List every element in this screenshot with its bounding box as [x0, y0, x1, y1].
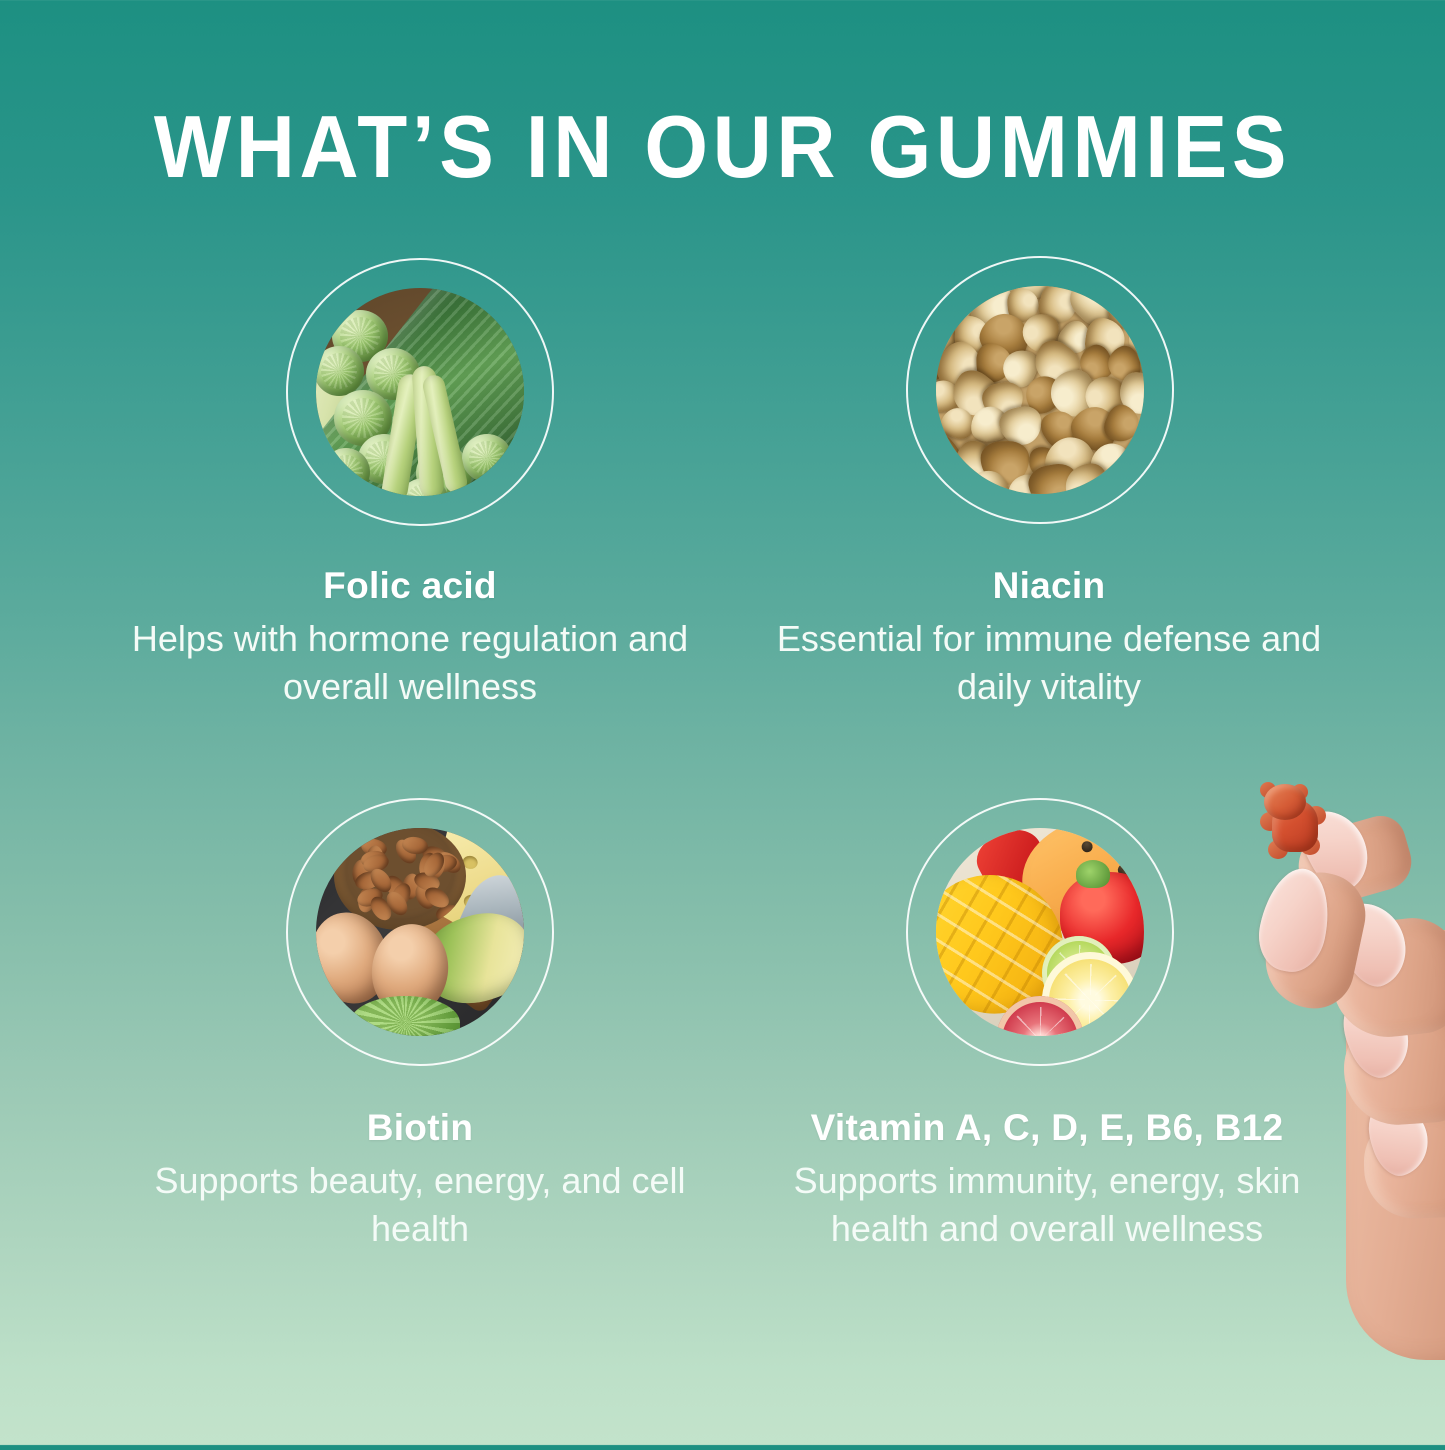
ingredient-description: Essential for immune defense and daily v… — [760, 615, 1338, 711]
ingredient-caption-niacin: Niacin Essential for immune defense and … — [760, 565, 1338, 711]
hand-holding-gummy-image — [1236, 780, 1445, 1450]
gummy-bear-icon — [1258, 784, 1340, 862]
infographic-canvas: WHAT’S IN OUR GUMMIES Folic acid Helps w… — [0, 0, 1445, 1445]
ingredient-image-folic-acid — [316, 288, 524, 496]
ingredient-name: Niacin — [760, 565, 1338, 608]
ingredient-name: Biotin — [110, 1107, 730, 1150]
ingredient-description: Helps with hormone regulation and overal… — [75, 615, 745, 711]
ingredient-caption-biotin: Biotin Supports beauty, energy, and cell… — [110, 1107, 730, 1253]
ingredient-name: Folic acid — [75, 565, 745, 608]
ingredient-image-niacin — [936, 286, 1144, 494]
ingredient-description: Supports beauty, energy, and cell health — [110, 1157, 730, 1253]
ingredient-caption-folic-acid: Folic acid Helps with hormone regulation… — [75, 565, 745, 711]
ingredient-image-biotin — [316, 828, 524, 1036]
page-title: WHAT’S IN OUR GUMMIES — [51, 103, 1395, 191]
ingredient-image-vitamins — [936, 828, 1144, 1036]
